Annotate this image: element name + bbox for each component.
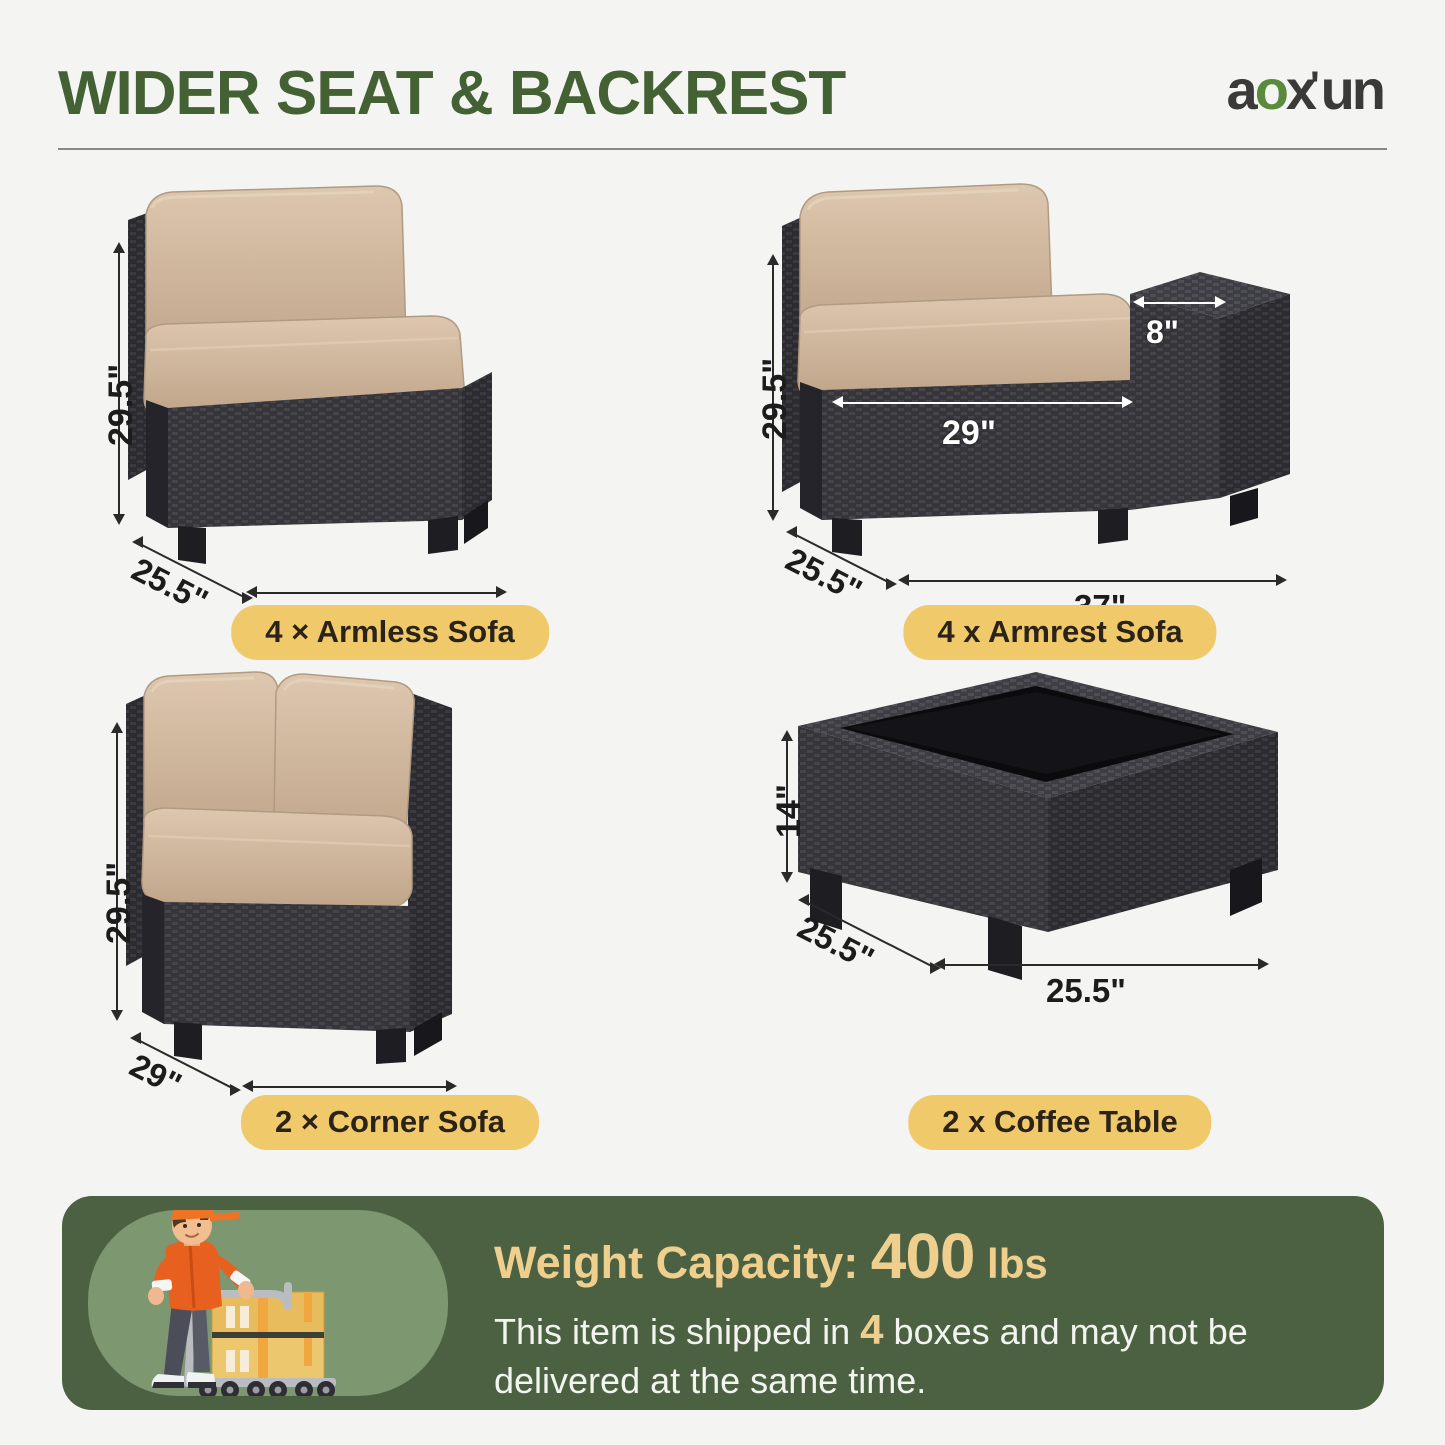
- width-arrow-line: [250, 1086, 450, 1088]
- armrest-arrow-line: [1140, 302, 1218, 304]
- width-arrow-head-right: [446, 1080, 457, 1092]
- pill-armrest-sofa[interactable]: 4 x Armrest Sofa: [903, 605, 1216, 660]
- width-arrow-line: [254, 592, 500, 594]
- weight-capacity-text: Weight Capacity: 400 lbs: [494, 1224, 1048, 1288]
- product-card-armless-sofa: 29.5" 25.5" 29" 4 × Armless Sofa: [60, 168, 720, 668]
- width-arrow-line: [906, 580, 1280, 582]
- page-title: WIDER SEAT & BACKREST: [58, 58, 845, 129]
- armless-sofa-illustration: [60, 168, 720, 598]
- seat-width-arrow-head-right: [1122, 396, 1133, 408]
- height-arrow-head-top: [781, 730, 793, 741]
- height-arrow-head-bottom: [113, 514, 125, 525]
- product-card-coffee-table: 14" 25.5" 25.5" 2 x Coffee Table: [730, 658, 1390, 1158]
- coffee-table-illustration: [730, 658, 1390, 1088]
- width-arrow-head-left: [898, 574, 909, 586]
- corner-height-label: 29.5": [102, 862, 136, 944]
- armless-height-label: 29.5": [104, 364, 138, 446]
- table-width-label: 25.5": [1046, 974, 1126, 1007]
- height-arrow-head-bottom: [767, 510, 779, 521]
- brand-logo-un: un: [1321, 58, 1383, 121]
- shipping-note-prefix: This item is shipped in: [494, 1311, 850, 1352]
- height-arrow-head-top: [113, 242, 125, 253]
- page-header: WIDER SEAT & BACKREST aox'un: [0, 0, 1445, 160]
- width-arrow-head-right: [1276, 574, 1287, 586]
- shipping-box-count: 4: [860, 1306, 883, 1353]
- armrest-height-label: 29.5": [758, 358, 792, 440]
- pill-armless-sofa[interactable]: 4 × Armless Sofa: [231, 605, 549, 660]
- height-arrow-head-top: [767, 254, 779, 265]
- weight-capacity-unit: lbs: [987, 1240, 1048, 1287]
- product-card-armrest-sofa: 29.5" 8" 29" 25.5" 37" 4 x Armrest Sofa: [730, 168, 1390, 668]
- depth-arrow-head-start: [132, 536, 143, 548]
- width-arrow-head-right: [1258, 958, 1269, 970]
- depth-arrow-head-start: [786, 526, 797, 538]
- table-height-label: 14": [772, 784, 806, 838]
- width-arrow-head-left: [242, 1080, 253, 1092]
- armrest-width-label: 8": [1146, 316, 1179, 348]
- depth-arrow-head-end: [886, 578, 897, 590]
- width-arrow-line: [942, 964, 1262, 966]
- shipping-note: This item is shipped in 4 boxes and may …: [494, 1302, 1344, 1405]
- header-divider: [58, 148, 1387, 150]
- height-arrow-head-bottom: [111, 1010, 123, 1021]
- armrest-sofa-illustration: [730, 168, 1390, 598]
- pill-coffee-table[interactable]: 2 x Coffee Table: [908, 1095, 1211, 1150]
- width-arrow-head-left: [934, 958, 945, 970]
- depth-arrow-head-start: [798, 894, 809, 906]
- weight-capacity-label: Weight Capacity:: [494, 1237, 858, 1288]
- corner-sofa-illustration: [60, 658, 720, 1088]
- brand-logo-o: o: [1255, 58, 1286, 121]
- armrest-arrow-head-left: [1133, 296, 1144, 308]
- shipping-banner: Weight Capacity: 400 lbs This item is sh…: [62, 1196, 1384, 1410]
- depth-arrow-head-end: [230, 1084, 241, 1096]
- weight-capacity-value: 400: [871, 1220, 975, 1292]
- brand-logo: aox'un: [1227, 62, 1383, 118]
- product-card-corner-sofa: 29.5" 29" 29" 2 × Corner Sofa: [60, 658, 720, 1158]
- height-arrow-head-top: [111, 722, 123, 733]
- brand-logo-a: a: [1227, 58, 1255, 121]
- armrest-seat-width-label: 29": [942, 416, 996, 450]
- brand-logo-tick: ': [1310, 64, 1317, 108]
- delivery-worker-illustration: [88, 1210, 448, 1396]
- width-arrow-head-left: [246, 586, 257, 598]
- delivery-worker-icon: [88, 1210, 448, 1396]
- seat-width-arrow-head-left: [832, 396, 843, 408]
- height-arrow-head-bottom: [781, 872, 793, 883]
- width-arrow-head-right: [496, 586, 507, 598]
- armrest-arrow-head-right: [1215, 296, 1226, 308]
- pill-corner-sofa[interactable]: 2 × Corner Sofa: [241, 1095, 539, 1150]
- product-grid: 29.5" 25.5" 29" 4 × Armless Sofa: [0, 168, 1445, 1173]
- seat-width-arrow-line: [840, 402, 1126, 404]
- depth-arrow-head-start: [130, 1032, 141, 1044]
